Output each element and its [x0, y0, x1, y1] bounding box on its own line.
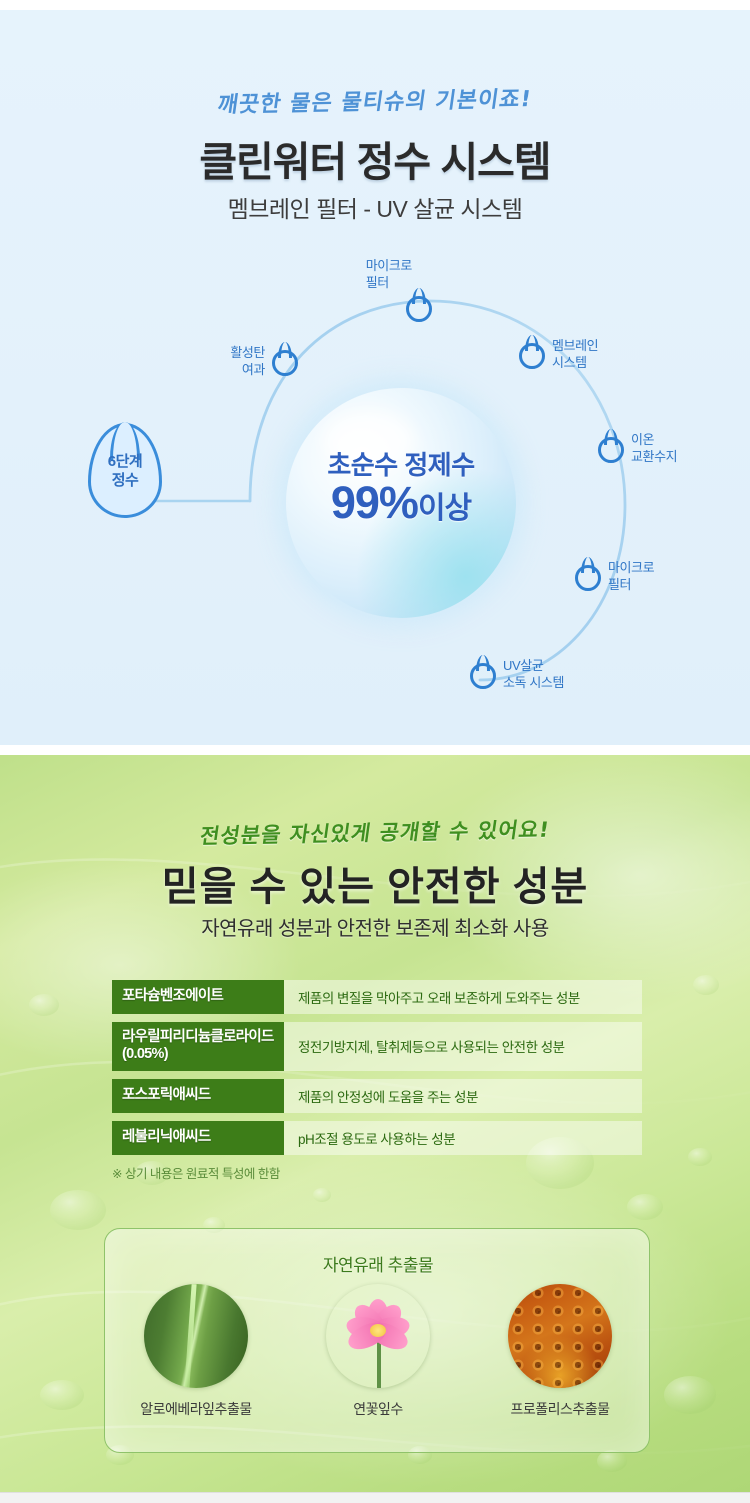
node-membrane-system: 멤브레인 시스템	[519, 335, 545, 369]
node-label-line1: UV살균	[503, 658, 564, 675]
natural-extracts-box: 자연유래 추출물 알로에베라잎추출물	[104, 1228, 650, 1453]
safe-ingredients-section: 전성분을 자신있게 공개할 수 있어요! 믿을 수 있는 안전한 성분 자연유래…	[0, 755, 750, 1492]
purity-value: 99%	[331, 477, 418, 528]
table-row: 포스포릭애씨드 제품의 안정성에 도움을 주는 성분	[112, 1079, 642, 1113]
aloe-leaf-image	[144, 1284, 248, 1388]
ingredient-name: 포스포릭애씨드	[122, 1087, 284, 1104]
ingredient-description-cell: 제품의 안정성에 도움을 주는 성분	[284, 1079, 642, 1113]
list-item: 알로에베라잎추출물	[116, 1284, 276, 1419]
ingredient-name: 포타슘벤조에이트	[122, 988, 284, 1005]
node-label-line2: 필터	[608, 577, 654, 594]
section-divider	[0, 745, 750, 755]
water-section-title: 클린워터 정수 시스템	[0, 128, 750, 188]
water-drop-icon	[272, 342, 298, 376]
node-label-line2: 소독 시스템	[503, 675, 564, 692]
node-label: 이온 교환수지	[631, 432, 677, 465]
ingredient-name-cell: 라우릴피리디늄클로라이드 (0.05%)	[112, 1022, 284, 1071]
ingredient-name: 라우릴피리디늄클로라이드	[122, 1029, 284, 1046]
ingredient-table: 포타슘벤조에이트 제품의 변질을 막아주고 오래 보존하게 도와주는 성분 라우…	[112, 980, 642, 1163]
ingredient-description-cell: 제품의 변질을 막아주고 오래 보존하게 도와주는 성분	[284, 980, 642, 1014]
water-drop-icon	[598, 429, 624, 463]
green-eyebrow-text: 전성분을 자신있게 공개할 수 있어요!	[0, 810, 750, 854]
water-drop-icon	[470, 655, 496, 689]
list-item: 연꽃잎수	[298, 1284, 458, 1419]
ingredient-description-cell: pH조절 용도로 사용하는 성분	[284, 1121, 642, 1155]
purity-value-suffix: 이상	[418, 492, 471, 525]
page-bottom-strip	[0, 1492, 750, 1503]
node-label-line2: 교환수지	[631, 449, 677, 466]
extract-label: 프로폴리스추출물	[480, 1399, 640, 1419]
purity-bubble-value: 99%이상	[286, 477, 516, 529]
ingredient-name-cell: 포스포릭애씨드	[112, 1079, 284, 1113]
honeycomb-image	[508, 1284, 612, 1388]
node-label: 활성탄 여과	[230, 345, 265, 378]
node-micro-filter-top: 마이크로 필터	[406, 288, 432, 322]
table-row: 포타슘벤조에이트 제품의 변질을 막아주고 오래 보존하게 도와주는 성분	[112, 980, 642, 1014]
ingredient-description-cell: 정전기방지제, 탈취제등으로 사용되는 안전한 성분	[284, 1022, 642, 1071]
node-micro-filter-lower: 마이크로 필터	[575, 557, 601, 591]
node-label: 멤브레인 시스템	[552, 338, 598, 371]
ingredient-name: 레불리닉애씨드	[122, 1129, 284, 1146]
node-label-line2: 여과	[230, 362, 265, 379]
entry-stage-label: 6단계 정수	[88, 453, 162, 491]
node-activated-carbon: 활성탄 여과	[272, 342, 298, 376]
node-uv-sterilizer: UV살균 소독 시스템	[470, 655, 496, 689]
entry-stage-label-line2: 정수	[88, 472, 162, 491]
table-row: 레불리닉애씨드 pH조절 용도로 사용하는 성분	[112, 1121, 642, 1155]
entry-stage-drop: 6단계 정수	[88, 423, 162, 518]
extract-label: 알로에베라잎추출물	[116, 1399, 276, 1419]
entry-stage-label-line1: 6단계	[88, 453, 162, 472]
table-row: 라우릴피리디늄클로라이드 (0.05%) 정전기방지제, 탈취제등으로 사용되는…	[112, 1022, 642, 1071]
water-drop-icon	[575, 557, 601, 591]
water-eyebrow-text: 깨끗한 물은 물티슈의 기본이죠!	[0, 77, 750, 123]
extract-label: 연꽃잎수	[298, 1399, 458, 1419]
node-label-line1: 멤브레인	[552, 338, 598, 355]
natural-extracts-list: 알로에베라잎추출물 연꽃잎수	[105, 1284, 651, 1419]
water-section-subtitle: 멤브레인 필터 - UV 살균 시스템	[0, 190, 750, 224]
ingredient-name-sub: (0.05%)	[122, 1046, 284, 1063]
node-ion-exchange-resin: 이온 교환수지	[598, 429, 624, 463]
water-drop-icon	[519, 335, 545, 369]
ingredient-name-cell: 포타슘벤조에이트	[112, 980, 284, 1014]
lotus-flower-image	[326, 1284, 430, 1388]
node-label-line1: 활성탄	[230, 345, 265, 362]
node-label-line1: 마이크로	[366, 258, 412, 275]
green-section-title: 믿을 수 있는 안전한 성분	[0, 854, 750, 912]
node-label-line2: 시스템	[552, 355, 598, 372]
list-item: 프로폴리스추출물	[480, 1284, 640, 1419]
ingredient-table-note: ※ 상기 내용은 원료적 특성에 한함	[112, 1163, 280, 1182]
node-label-line2: 필터	[366, 275, 412, 292]
ingredient-name-cell: 레불리닉애씨드	[112, 1121, 284, 1155]
node-label-line1: 마이크로	[608, 560, 654, 577]
node-label: UV살균 소독 시스템	[503, 658, 564, 691]
node-label: 마이크로 필터	[608, 560, 654, 593]
clean-water-section: 깨끗한 물은 물티슈의 기본이죠! 클린워터 정수 시스템 멤브레인 필터 - …	[0, 10, 750, 745]
water-drop-icon	[406, 288, 432, 322]
natural-extracts-title: 자연유래 추출물	[105, 1251, 651, 1276]
green-section-subtitle: 자연유래 성분과 안전한 보존제 최소화 사용	[0, 912, 750, 941]
purification-flow-diagram: 초순수 정제수 99%이상 6단계 정수 활성탄 여과	[0, 245, 750, 745]
node-label: 마이크로 필터	[366, 258, 412, 291]
node-label-line1: 이온	[631, 432, 677, 449]
